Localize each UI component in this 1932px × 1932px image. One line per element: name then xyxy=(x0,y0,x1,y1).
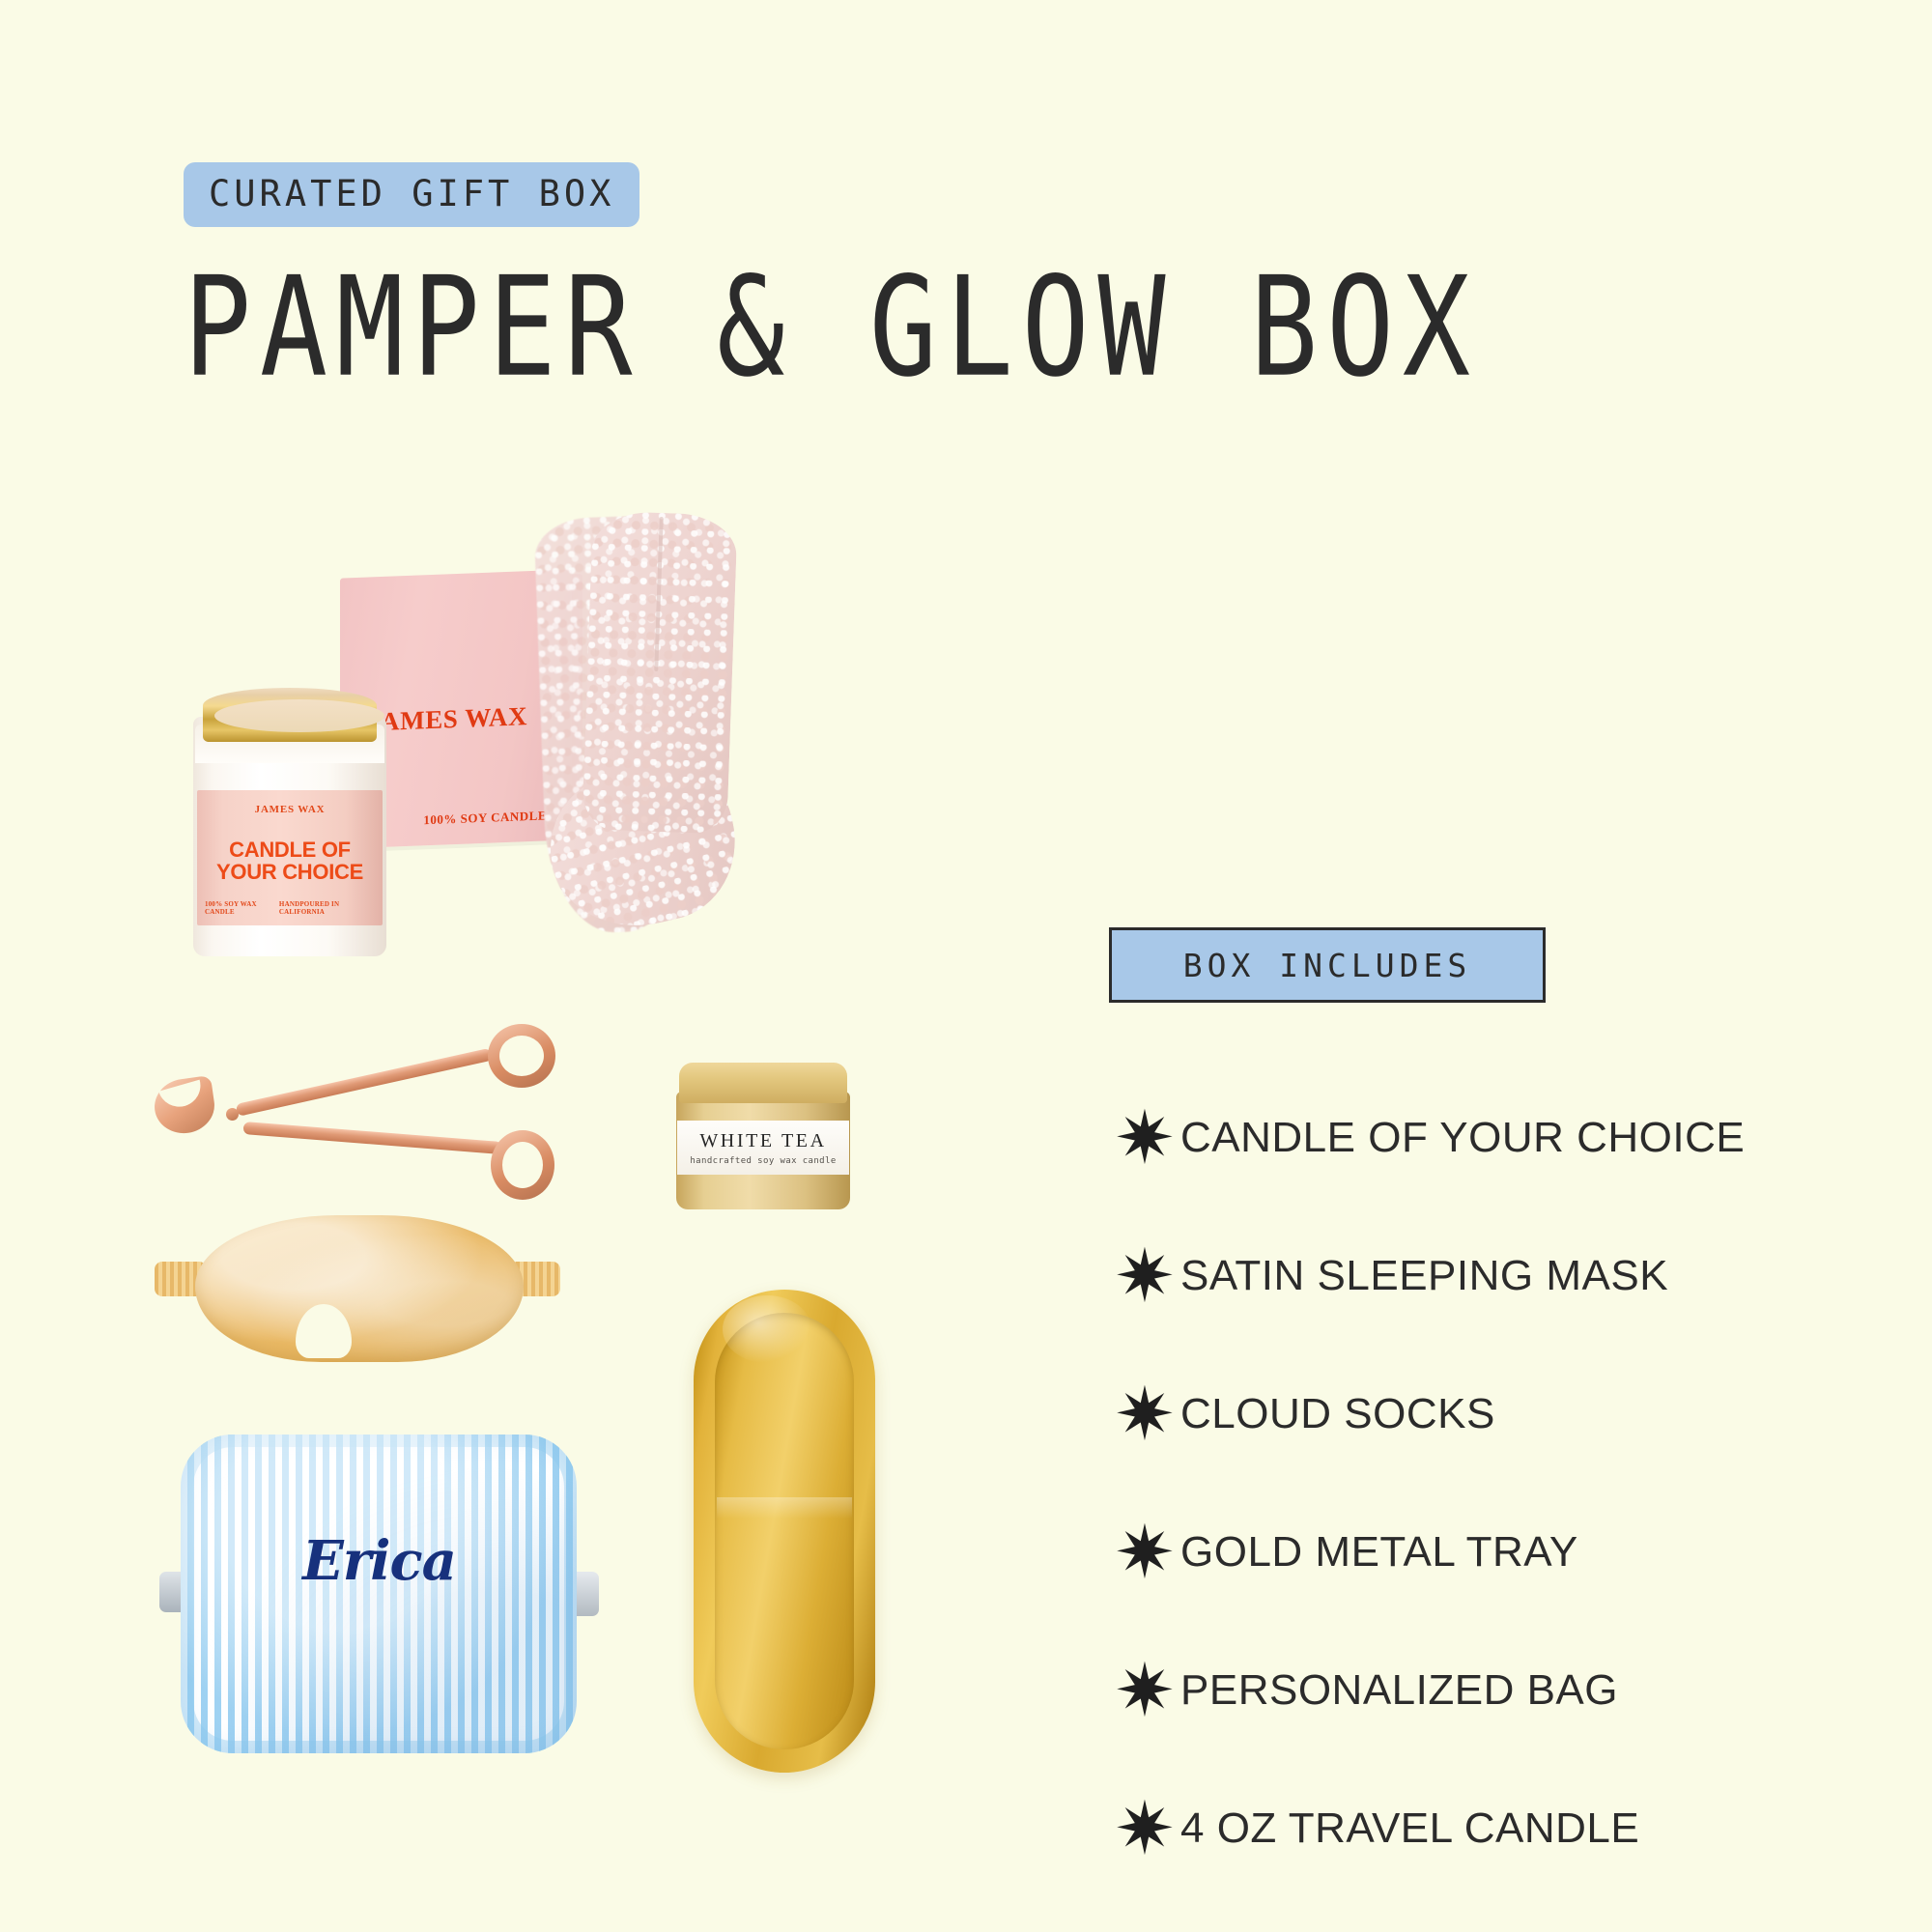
list-item: ✷4 OZ TRAVEL CANDLE xyxy=(1109,1782,1843,1875)
trimmer-arm-upper xyxy=(236,1048,493,1117)
carton-note-text: 100% SOY CANDLE xyxy=(423,808,547,828)
travel-candle-tin: WHITE TEA handcrafted soy wax candle xyxy=(676,1063,850,1212)
tin-lid xyxy=(679,1063,847,1103)
jar-footer-left: 100% SOY WAX CANDLE xyxy=(205,900,279,916)
asterisk-icon: ✷ xyxy=(1109,1668,1180,1713)
jar-headline-text: CANDLE OFYOUR CHOICE xyxy=(216,838,363,883)
jar-gold-lid xyxy=(203,688,377,742)
mask-body xyxy=(195,1215,524,1362)
asterisk-icon: ✷ xyxy=(1109,1116,1180,1160)
tray-highlight-band xyxy=(717,1497,852,1519)
personalized-bag: Erica xyxy=(159,1435,599,1768)
list-item: ✷SATIN SLEEPING MASK xyxy=(1109,1230,1843,1322)
trimmer-head-notch xyxy=(158,1080,205,1112)
bag-monogram-text: Erica xyxy=(159,1529,599,1593)
box-includes-list: ✷CANDLE OF YOUR CHOICE✷SATIN SLEEPING MA… xyxy=(1109,1092,1843,1875)
gold-metal-tray xyxy=(694,1290,875,1773)
trimmer-arm-lower xyxy=(242,1122,501,1154)
list-item: ✷GOLD METAL TRAY xyxy=(1109,1506,1843,1599)
jar-label: JAMES WAX CANDLE OFYOUR CHOICE 100% SOY … xyxy=(197,790,383,925)
list-item-label: PERSONALIZED BAG xyxy=(1180,1666,1618,1715)
tin-label: WHITE TEA handcrafted soy wax candle xyxy=(677,1121,849,1175)
list-item: ✷PERSONALIZED BAG xyxy=(1109,1644,1843,1737)
trimmer-ring-lower xyxy=(491,1130,554,1200)
trimmer-head xyxy=(151,1075,217,1137)
list-item-label: SATIN SLEEPING MASK xyxy=(1180,1252,1668,1300)
list-item: ✷CANDLE OF YOUR CHOICE xyxy=(1109,1092,1843,1184)
tin-subtitle-text: handcrafted soy wax candle xyxy=(690,1156,836,1166)
cloud-socks xyxy=(541,517,821,1019)
box-includes-badge: BOX INCLUDES xyxy=(1109,927,1546,1003)
tray-gloss-highlight xyxy=(723,1295,811,1363)
trimmer-pivot-screw xyxy=(226,1108,239,1121)
jar-footer: 100% SOY WAX CANDLE HANDPOURED IN CALIFO… xyxy=(205,900,375,916)
jar-footer-right: HANDPOURED IN CALIFORNIA xyxy=(279,900,375,916)
jar-brand-text: JAMES WAX xyxy=(255,804,326,815)
product-flatlay: JAMES WAX 100% SOY CANDLE JAMES WAX CAND… xyxy=(0,0,1063,1932)
satin-sleep-mask xyxy=(155,1207,560,1391)
list-item: ✷CLOUD SOCKS xyxy=(1109,1368,1843,1461)
asterisk-icon: ✷ xyxy=(1109,1806,1180,1851)
list-item-label: 4 OZ TRAVEL CANDLE xyxy=(1180,1804,1639,1853)
box-includes-panel: BOX INCLUDES ✷CANDLE OF YOUR CHOICE✷SATI… xyxy=(1109,927,1843,1920)
tin-name-text: WHITE TEA xyxy=(699,1130,826,1152)
list-item-label: CLOUD SOCKS xyxy=(1180,1390,1495,1438)
list-item-label: CANDLE OF YOUR CHOICE xyxy=(1180,1114,1745,1162)
candle-jar: JAMES WAX CANDLE OFYOUR CHOICE 100% SOY … xyxy=(193,667,386,956)
asterisk-icon: ✷ xyxy=(1109,1254,1180,1298)
asterisk-icon: ✷ xyxy=(1109,1392,1180,1436)
list-item-label: GOLD METAL TRAY xyxy=(1180,1528,1578,1577)
tray-inner-well xyxy=(715,1313,854,1749)
asterisk-icon: ✷ xyxy=(1109,1530,1180,1575)
wick-trimmer xyxy=(155,1019,560,1212)
bag-sheen xyxy=(181,1435,577,1753)
trimmer-ring-upper xyxy=(488,1024,555,1088)
jar-lid-top xyxy=(214,699,384,732)
